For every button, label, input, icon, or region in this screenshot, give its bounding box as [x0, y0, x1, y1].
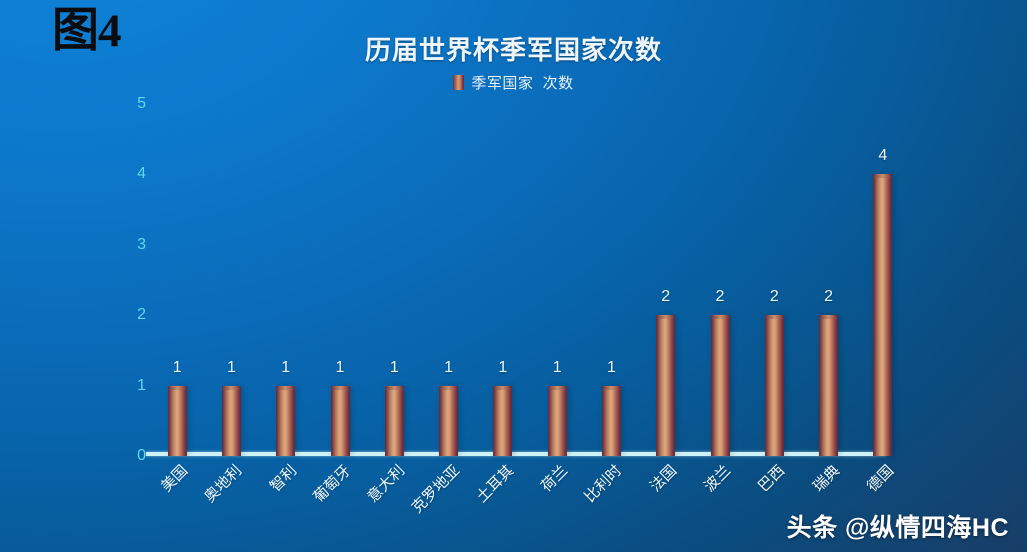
bar-value-label: 2 — [770, 288, 779, 306]
y-axis: 012345 — [120, 104, 146, 456]
chart-title: 历届世界杯季军国家次数 — [0, 30, 1027, 67]
bar[interactable]: 1 — [602, 386, 621, 456]
chart-screenshot: 图4 历届世界杯季军国家次数 季军国家 次数 012345 1111111112… — [0, 0, 1027, 552]
bar[interactable]: 2 — [656, 315, 675, 456]
bar-value-label: 1 — [173, 359, 182, 377]
bar[interactable]: 4 — [873, 174, 892, 456]
legend-label: 季军国家 次数 — [471, 72, 573, 93]
bar-value-label: 1 — [227, 359, 236, 377]
y-axis-tick: 1 — [120, 377, 146, 395]
chart-legend: 季军国家 次数 — [0, 72, 1027, 93]
bar-value-label: 2 — [716, 288, 725, 306]
bar-value-label: 1 — [281, 359, 290, 377]
bar[interactable]: 1 — [493, 386, 512, 456]
bar-value-label: 1 — [498, 359, 507, 377]
bar[interactable]: 2 — [819, 315, 838, 456]
y-axis-tick: 4 — [120, 165, 146, 183]
y-axis-tick: 5 — [120, 95, 146, 113]
y-axis-tick: 0 — [120, 447, 146, 465]
bar[interactable]: 2 — [765, 315, 784, 456]
bar-value-label: 2 — [824, 288, 833, 306]
bar[interactable]: 1 — [331, 386, 350, 456]
bar[interactable]: 1 — [439, 386, 458, 456]
bar[interactable]: 1 — [276, 386, 295, 456]
bar[interactable]: 1 — [548, 386, 567, 456]
bar[interactable]: 2 — [711, 315, 730, 456]
bar-value-label: 4 — [878, 147, 887, 165]
bar[interactable]: 1 — [385, 386, 404, 456]
bar[interactable]: 1 — [222, 386, 241, 456]
bar-value-label: 1 — [336, 359, 345, 377]
bar-value-label: 1 — [390, 359, 399, 377]
bar[interactable]: 1 — [168, 386, 187, 456]
y-axis-tick: 2 — [120, 306, 146, 324]
bar-value-label: 1 — [553, 359, 562, 377]
bar-value-label: 2 — [661, 288, 670, 306]
y-axis-tick: 3 — [120, 236, 146, 254]
bar-value-label: 1 — [444, 359, 453, 377]
plot-area: 11111111122224 — [150, 104, 910, 456]
bar-value-label: 1 — [607, 359, 616, 377]
legend-swatch-icon — [453, 75, 464, 90]
